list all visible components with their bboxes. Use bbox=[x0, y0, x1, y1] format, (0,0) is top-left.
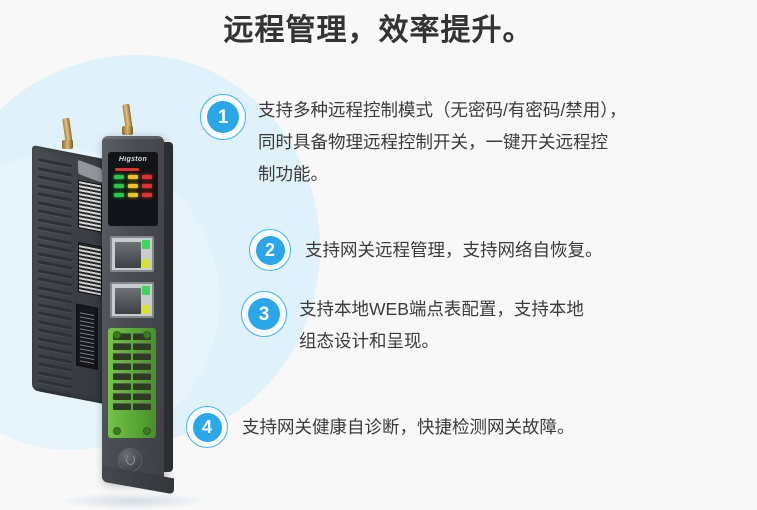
device-shadow bbox=[58, 492, 208, 510]
feature-number-2: 2 bbox=[254, 234, 287, 267]
page-title: 远程管理，效率提升。 bbox=[0, 8, 757, 54]
feature-badge-3: 3 bbox=[241, 291, 287, 337]
promo-page: 远程管理，效率提升。 Higston bbox=[0, 0, 757, 487]
feature-text-2: 支持网关远程管理，支持网络自恢复。 bbox=[305, 229, 603, 266]
feature-item-1: 1 支持多种远程控制模式（无密码/有密码/禁用）， 同时具备物理远程控制开关，一… bbox=[200, 94, 626, 190]
feature-item-4: 4 支持网关健康自诊断，快捷检测网关故障。 bbox=[186, 406, 575, 448]
feature-number-1: 1 bbox=[205, 99, 241, 135]
feature-text-4: 支持网关健康自诊断，快捷检测网关故障。 bbox=[242, 406, 575, 443]
feature-badge-4: 4 bbox=[186, 406, 228, 448]
feature-item-3: 3 支持本地WEB端点表配置，支持本地 组态设计和呈现。 bbox=[241, 291, 584, 357]
feature-text-3: 支持本地WEB端点表配置，支持本地 组态设计和呈现。 bbox=[299, 291, 584, 357]
feature-number-4: 4 bbox=[191, 411, 224, 444]
feature-number-3: 3 bbox=[246, 296, 282, 332]
feature-badge-1: 1 bbox=[200, 94, 246, 140]
feature-list: 1 支持多种远程控制模式（无密码/有密码/禁用）， 同时具备物理远程控制开关，一… bbox=[0, 86, 757, 466]
feature-text-1: 支持多种远程控制模式（无密码/有密码/禁用）， 同时具备物理远程控制开关，一键开… bbox=[258, 94, 626, 190]
feature-item-2: 2 支持网关远程管理，支持网络自恢复。 bbox=[249, 229, 603, 271]
feature-badge-2: 2 bbox=[249, 229, 291, 271]
